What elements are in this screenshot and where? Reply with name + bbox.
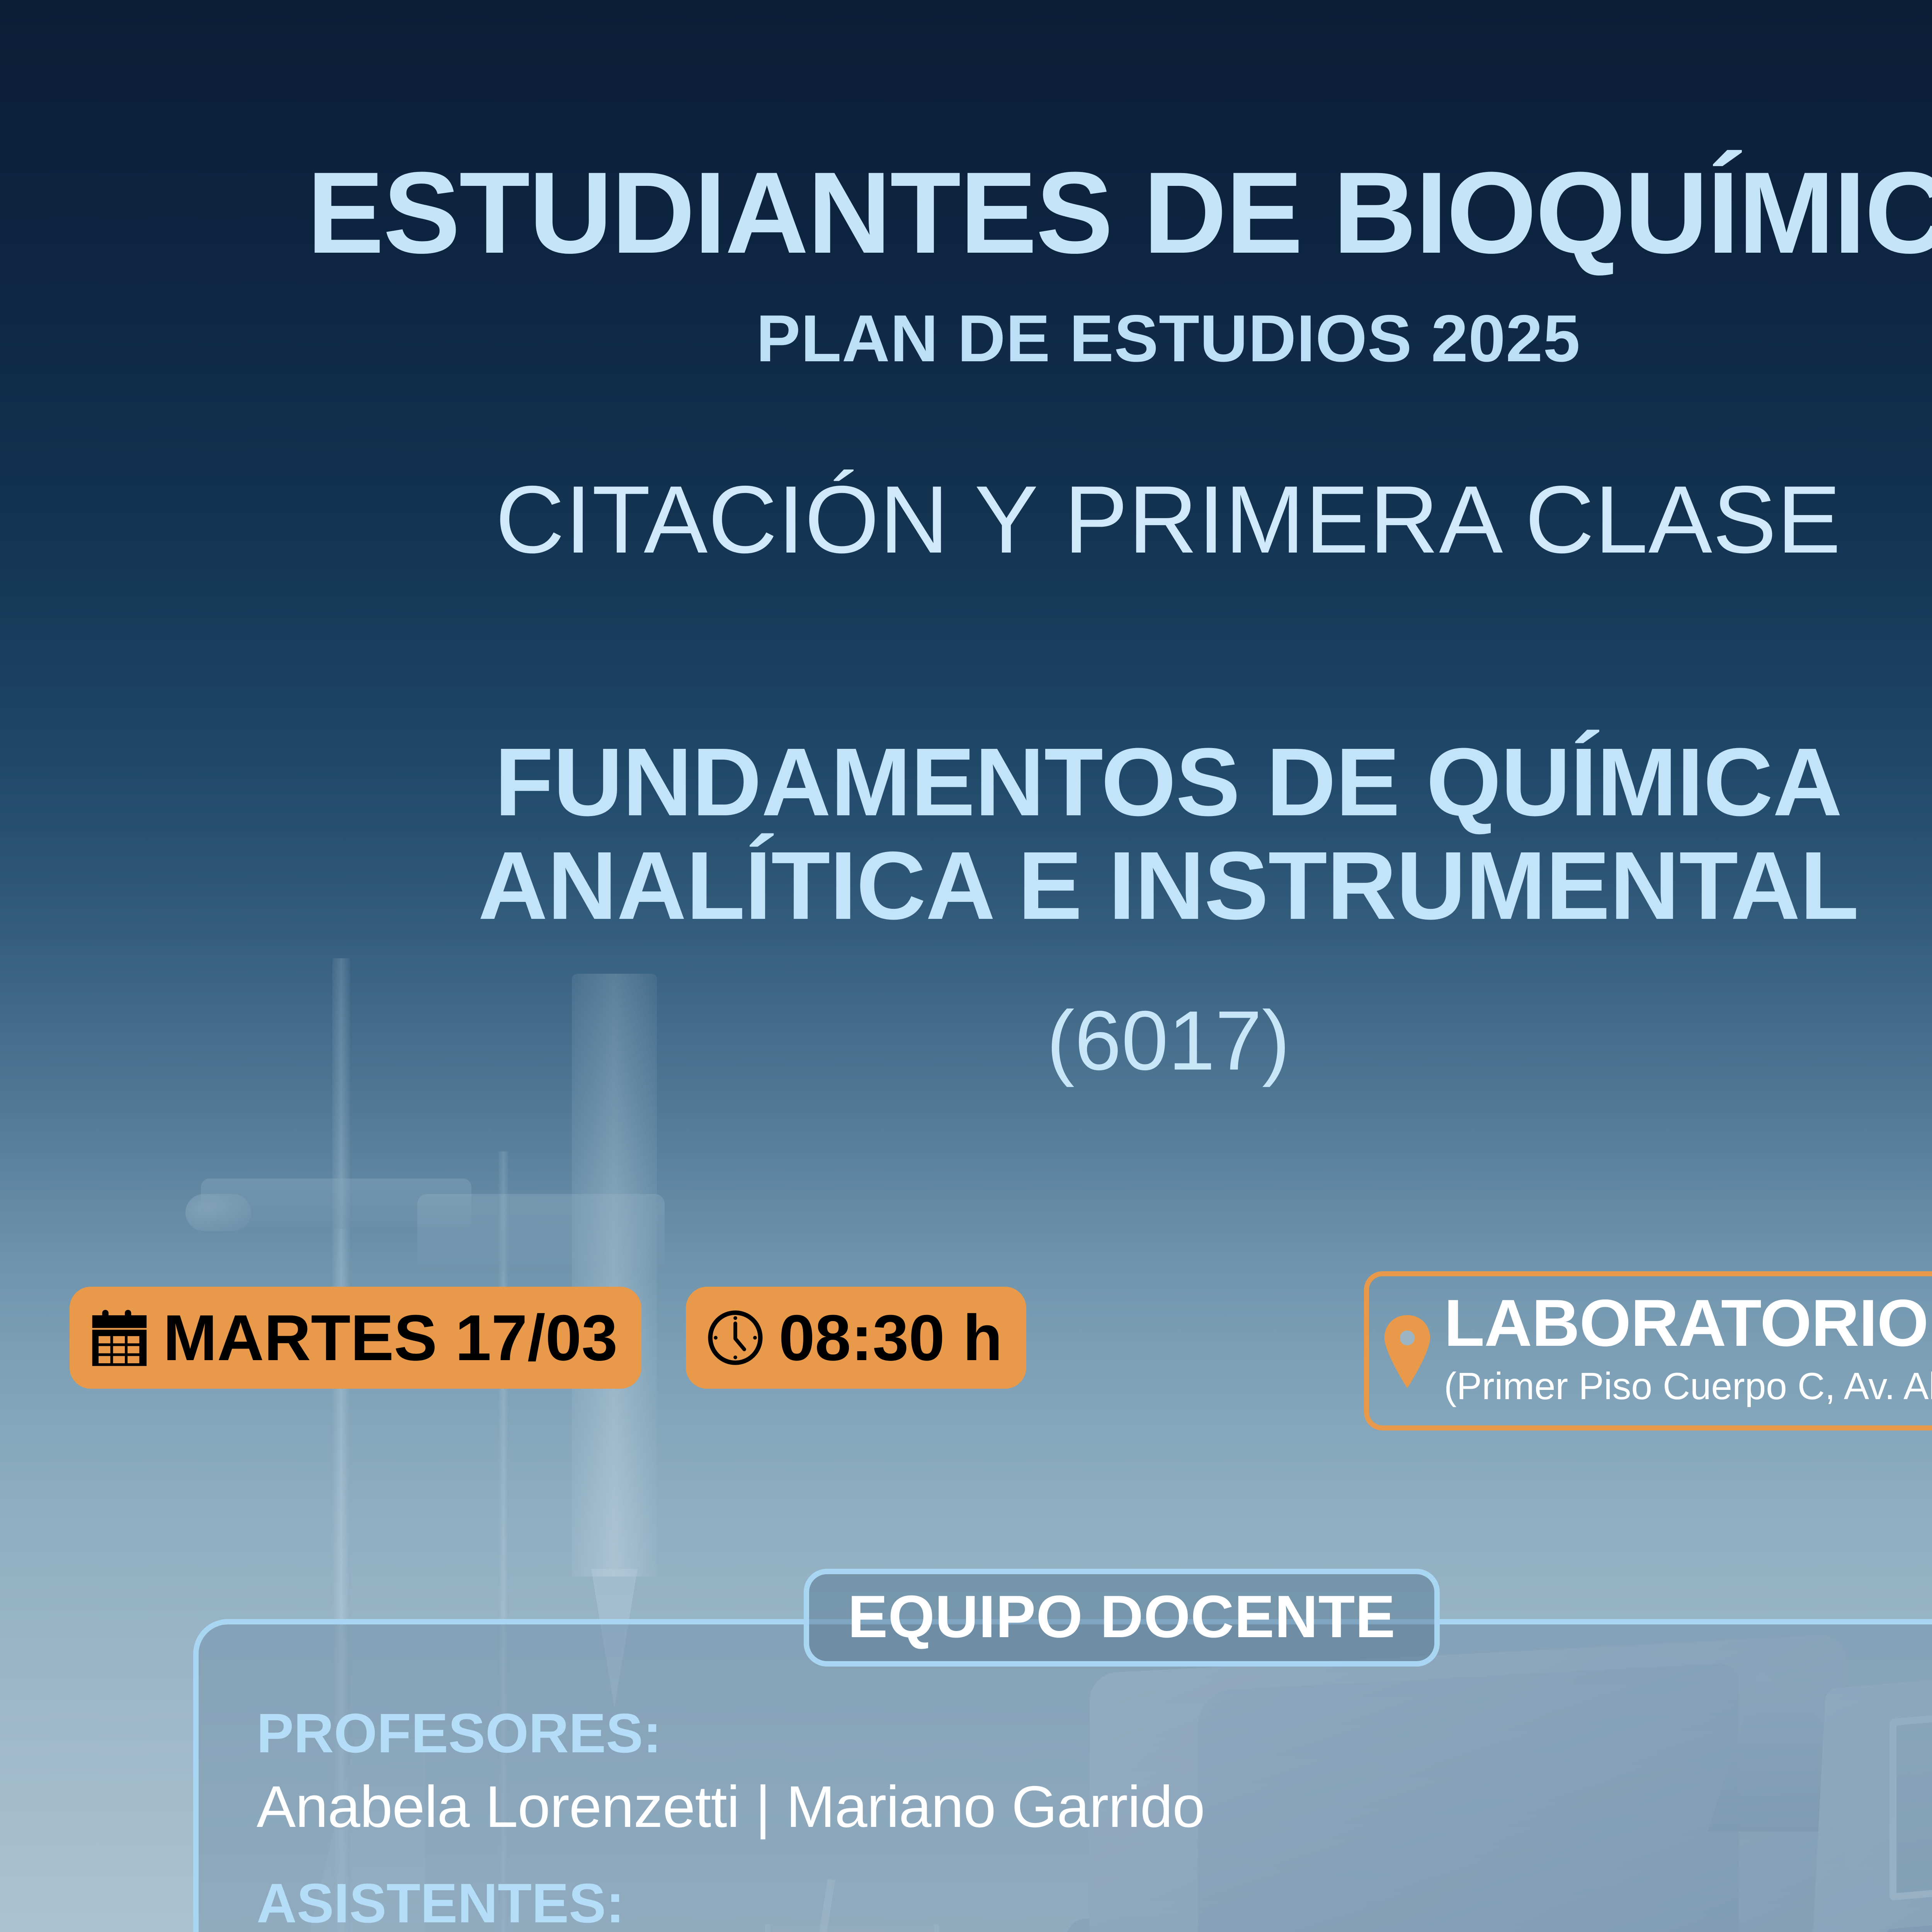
- event-details-badges: MARTES 17/03 08:30 h: [70, 1287, 1026, 1389]
- staff-role-label: ASISTENTES:: [257, 1876, 1932, 1931]
- event-subtitle: CITACIÓN Y PRIMERA CLASE: [0, 471, 1932, 567]
- course-code: (6017): [0, 999, 1932, 1083]
- staff-role-label: PROFESORES:: [257, 1706, 1932, 1761]
- date-badge[interactable]: MARTES 17/03: [70, 1287, 641, 1389]
- map-pin-icon: [1382, 1314, 1432, 1389]
- poster-root: ESTUDIANTES DE BIOQUÍMICA PLAN DE ESTUDI…: [0, 0, 1932, 1932]
- clock-icon: [707, 1309, 764, 1366]
- course-title: FUNDAMENTOS DE QUÍMICA ANALÍTICA E INSTR…: [0, 730, 1932, 937]
- poster-content: ESTUDIANTES DE BIOQUÍMICA PLAN DE ESTUDI…: [0, 0, 1932, 1932]
- time-badge[interactable]: 08:30 h: [686, 1287, 1026, 1389]
- staff-group-profesores: PROFESORES: Anabela Lorenzetti | Mariano…: [257, 1706, 1932, 1836]
- course-title-line-2: ANALÍTICA E INSTRUMENTAL: [0, 834, 1932, 937]
- staff-group-asistentes: ASISTENTES: Florencia San Román | Nicolá…: [257, 1876, 1932, 1932]
- location-address: (Primer Piso Cuerpo C, Av. Alem 1253): [1444, 1362, 1932, 1410]
- plan-subheadline: PLAN DE ESTUDIOS 2025: [0, 305, 1932, 372]
- date-badge-label: MARTES 17/03: [163, 1305, 617, 1370]
- staff-members: Anabela Lorenzetti | Mariano Garrido: [257, 1777, 1932, 1836]
- staff-section-title: EQUIPO DOCENTE: [804, 1569, 1440, 1667]
- time-badge-label: 08:30 h: [779, 1305, 1002, 1370]
- calendar-icon: [90, 1308, 148, 1368]
- location-text-group: LABORATORIO 124 (Primer Piso Cuerpo C, A…: [1444, 1289, 1932, 1410]
- audience-headline: ESTUDIANTES DE BIOQUÍMICA: [0, 155, 1932, 270]
- location-badge[interactable]: LABORATORIO 124 (Primer Piso Cuerpo C, A…: [1364, 1271, 1932, 1430]
- course-title-line-1: FUNDAMENTOS DE QUÍMICA: [0, 730, 1932, 834]
- location-name: LABORATORIO 124: [1444, 1289, 1932, 1357]
